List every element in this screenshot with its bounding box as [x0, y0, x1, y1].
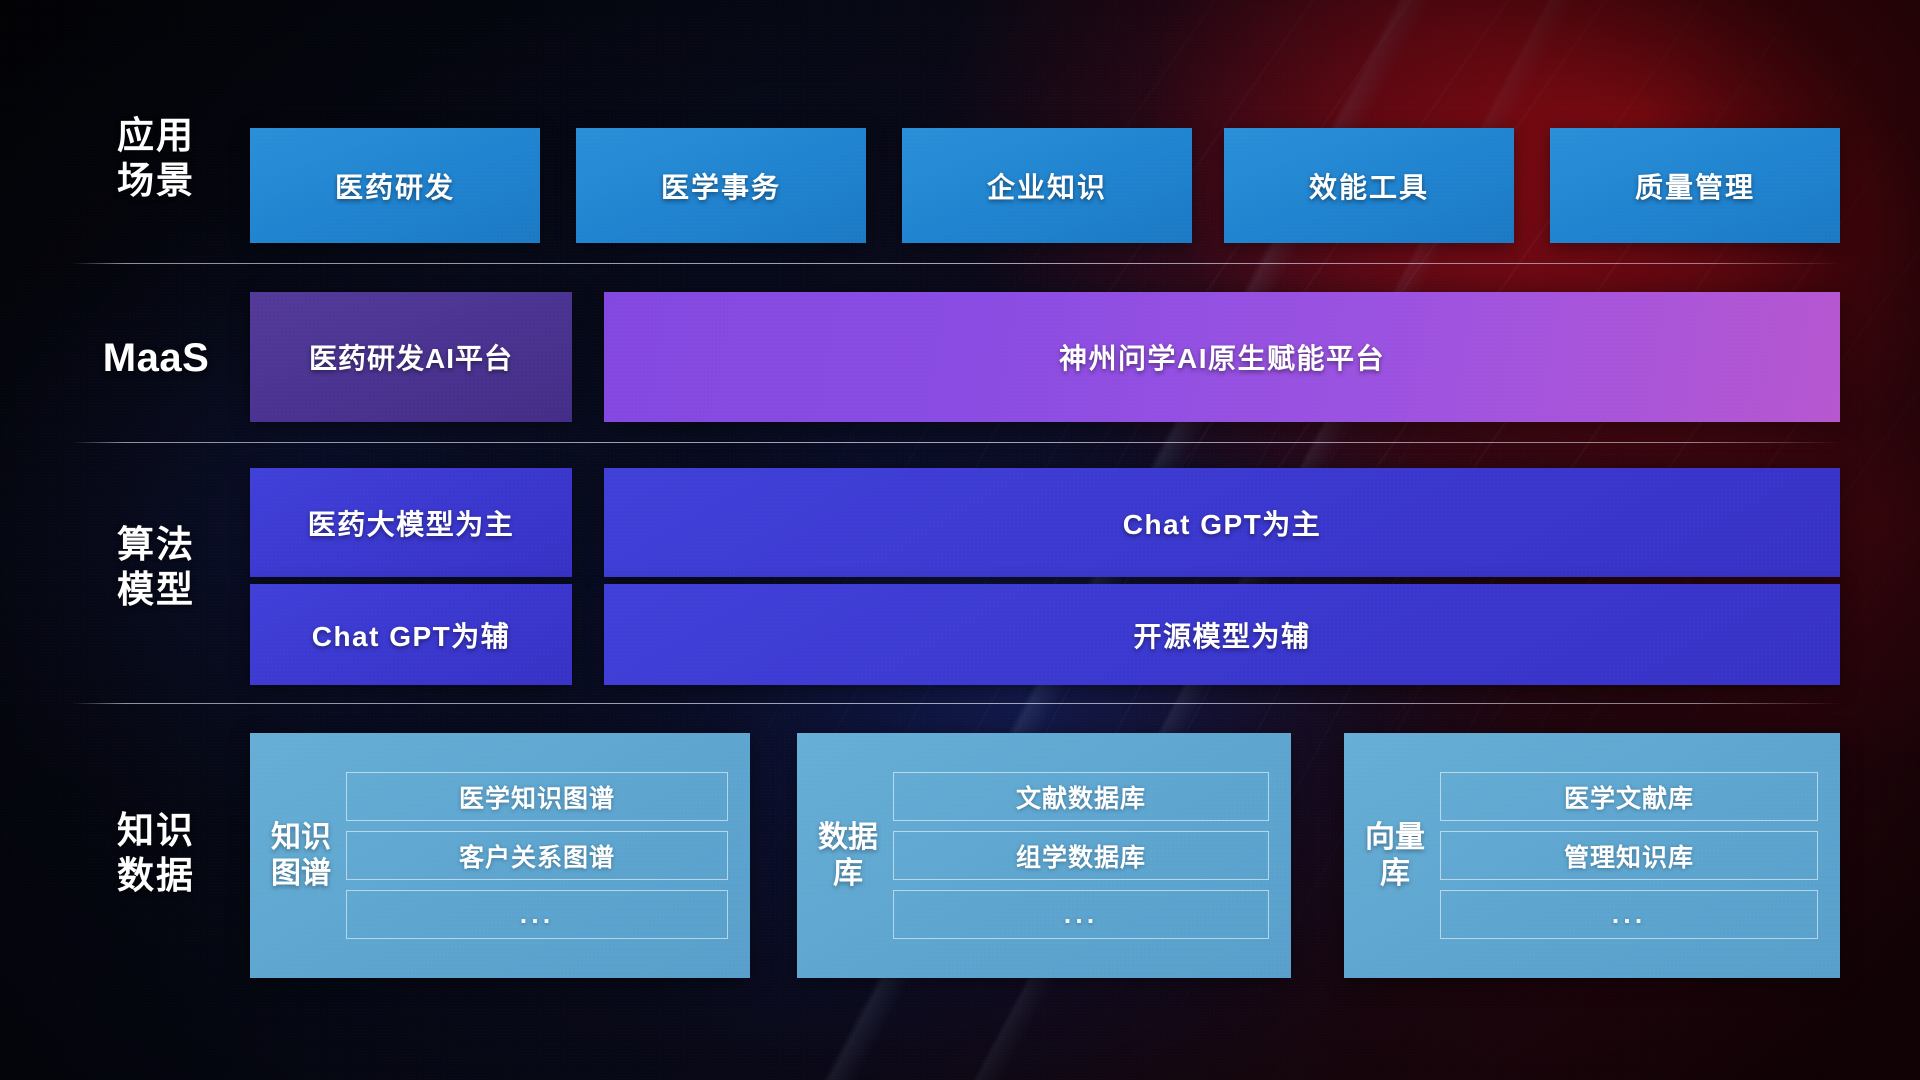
algo-box-chatgpt-secondary[interactable]: Chat GPT为辅 [250, 584, 572, 685]
knowledge-item-graph-more[interactable]: ... [346, 890, 728, 939]
algo-box-opensource-secondary-label: 开源模型为辅 [1133, 615, 1310, 655]
maas-box-enablement-platform[interactable]: 神州问学AI原生赋能平台 [604, 292, 1840, 422]
divider-3 [72, 703, 1840, 704]
knowledge-panel-database-title: 数据库 [817, 820, 879, 892]
app-box-1[interactable]: 医药研发 [250, 128, 540, 243]
knowledge-item-management-kb[interactable]: 管理知识库 [1440, 831, 1818, 880]
knowledge-panel-database-items: 文献数据库 组学数据库 ... [879, 754, 1291, 957]
knowledge-item-literature-db[interactable]: 文献数据库 [893, 772, 1269, 821]
knowledge-panel-graph[interactable]: 知识图谱 医学知识图谱 客户关系图谱 ... [250, 733, 750, 978]
knowledge-item-medical-graph[interactable]: 医学知识图谱 [346, 772, 728, 821]
divider-1 [72, 263, 1840, 264]
knowledge-panel-vector-title: 向量库 [1364, 820, 1426, 892]
row-label-maas: MaaS [76, 336, 236, 381]
knowledge-item-crm-graph[interactable]: 客户关系图谱 [346, 831, 728, 880]
knowledge-panel-vector[interactable]: 向量库 医学文献库 管理知识库 ... [1344, 733, 1840, 978]
maas-box-platform[interactable]: 医药研发AI平台 [250, 292, 572, 422]
divider-2 [72, 442, 1840, 443]
algo-box-chatgpt-primary-label: Chat GPT为主 [1123, 503, 1322, 543]
app-box-3-label: 企业知识 [987, 166, 1107, 206]
architecture-diagram: 应用 场景 医药研发 医学事务 企业知识 效能工具 质量管理 MaaS 医药研发… [0, 0, 1920, 1080]
knowledge-panel-vector-items: 医学文献库 管理知识库 ... [1426, 754, 1840, 957]
knowledge-item-vector-more[interactable]: ... [1440, 890, 1818, 939]
algo-box-pharma-llm-primary[interactable]: 医药大模型为主 [250, 468, 572, 577]
app-box-5[interactable]: 质量管理 [1550, 128, 1840, 243]
maas-box-platform-label: 医药研发AI平台 [309, 337, 513, 377]
knowledge-item-database-more[interactable]: ... [893, 890, 1269, 939]
app-box-2[interactable]: 医学事务 [576, 128, 866, 243]
algo-box-opensource-secondary[interactable]: 开源模型为辅 [604, 584, 1840, 685]
app-box-2-label: 医学事务 [661, 166, 781, 206]
row-label-application-scenarios: 应用 场景 [76, 113, 236, 203]
app-box-5-label: 质量管理 [1635, 166, 1755, 206]
app-box-4-label: 效能工具 [1309, 166, 1429, 206]
maas-box-enablement-platform-label: 神州问学AI原生赋能平台 [1059, 337, 1385, 377]
knowledge-item-medical-literature[interactable]: 医学文献库 [1440, 772, 1818, 821]
app-box-3[interactable]: 企业知识 [902, 128, 1192, 243]
app-box-1-label: 医药研发 [335, 166, 455, 206]
row-label-algorithm-model: 算法 模型 [76, 522, 236, 612]
algo-box-chatgpt-primary[interactable]: Chat GPT为主 [604, 468, 1840, 577]
app-box-4[interactable]: 效能工具 [1224, 128, 1514, 243]
knowledge-item-omics-db[interactable]: 组学数据库 [893, 831, 1269, 880]
knowledge-panel-graph-items: 医学知识图谱 客户关系图谱 ... [332, 754, 750, 957]
knowledge-panel-database[interactable]: 数据库 文献数据库 组学数据库 ... [797, 733, 1291, 978]
algo-box-chatgpt-secondary-label: Chat GPT为辅 [312, 615, 511, 655]
knowledge-panel-graph-title: 知识图谱 [270, 820, 332, 892]
algo-box-pharma-llm-primary-label: 医药大模型为主 [308, 503, 515, 543]
row-label-knowledge-data: 知识 数据 [76, 808, 236, 898]
